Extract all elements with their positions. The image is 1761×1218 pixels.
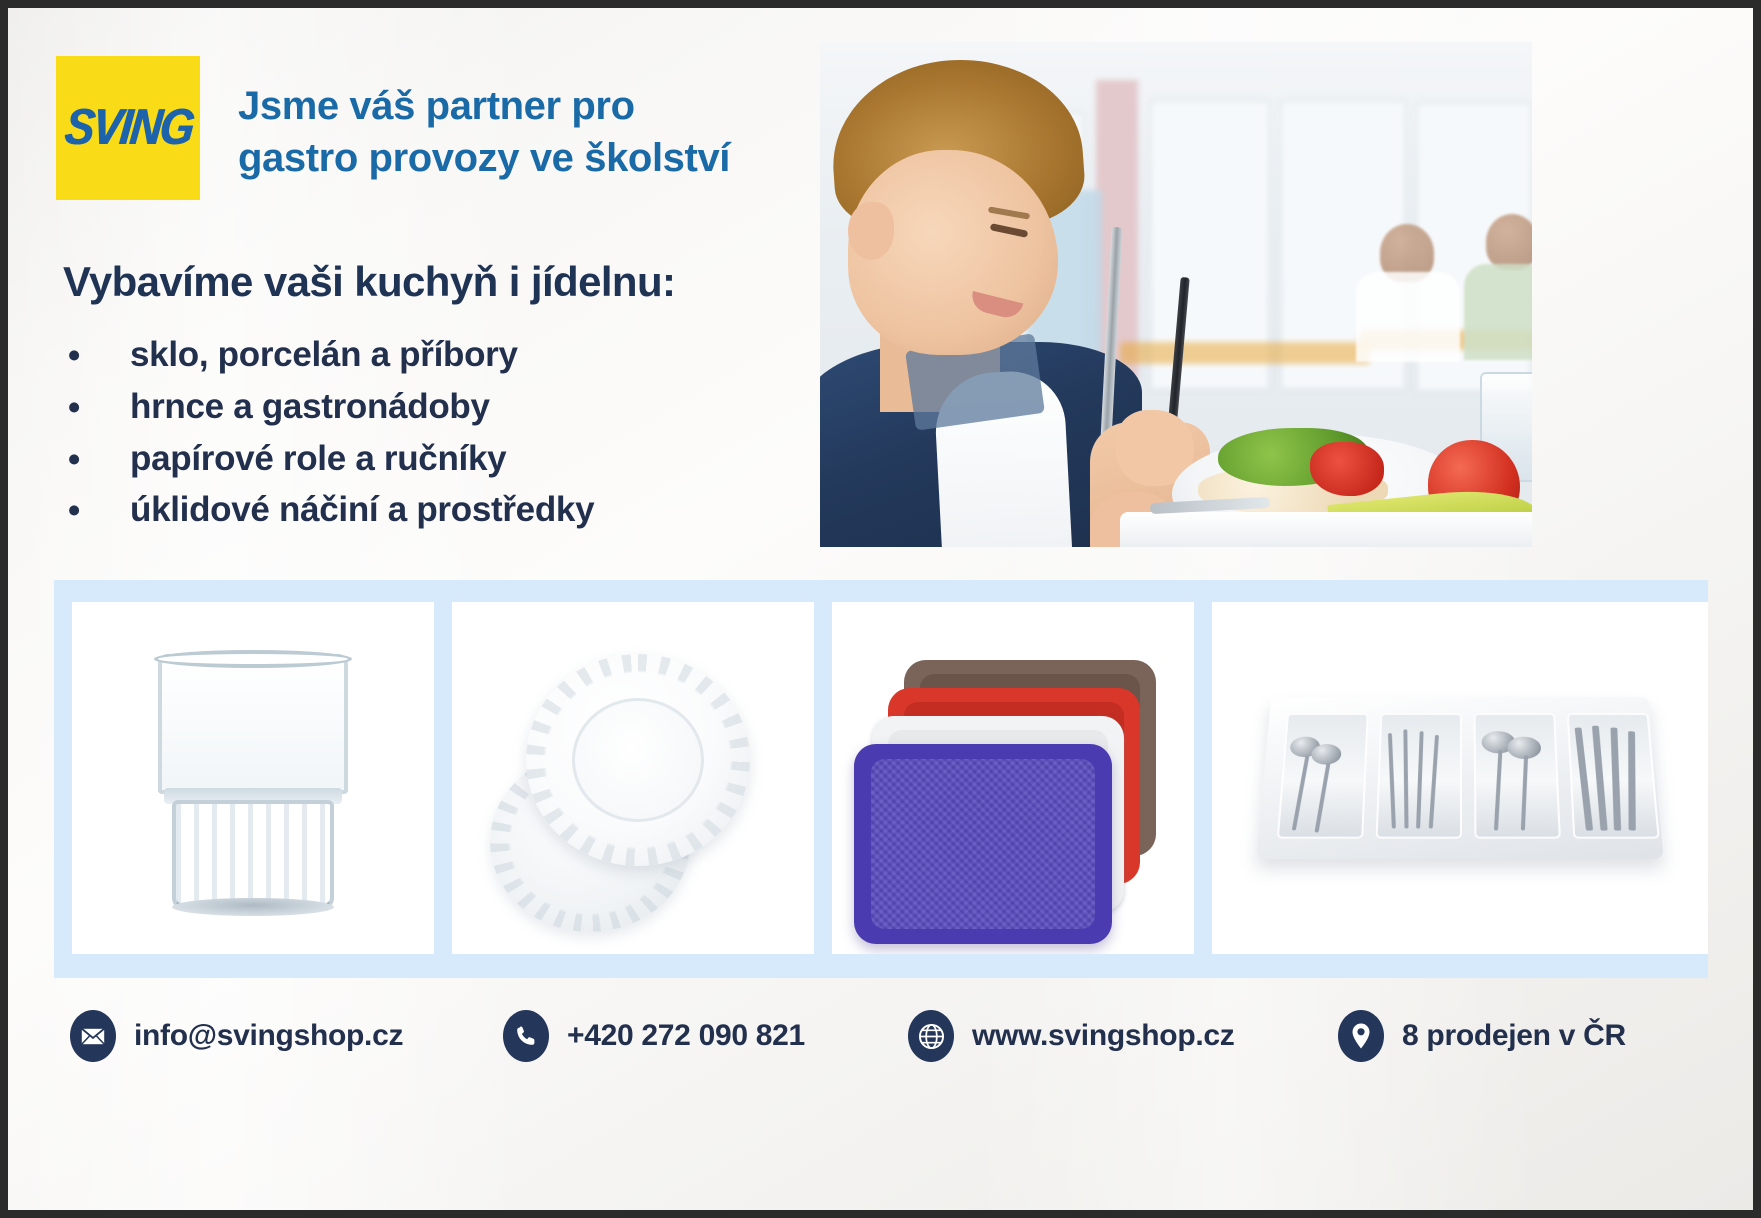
contact-phone-label: +420 272 090 821 <box>567 1019 805 1053</box>
boy-eating-lunch-photo <box>820 42 1532 547</box>
poster-frame: SVING Jsme váš partner pro gastro provoz… <box>8 8 1753 1210</box>
headline: Jsme váš partner pro gastro provozy ve š… <box>238 80 798 184</box>
product-card-drinking-glass[interactable] <box>72 602 434 954</box>
bullet-marker-icon: • <box>68 440 130 477</box>
contact-email[interactable]: info@svingshop.cz <box>70 1010 403 1062</box>
cutlery-compartment <box>1277 713 1369 839</box>
contact-footer: info@svingshop.cz +420 272 090 821 w <box>8 988 1753 1210</box>
product-card-serving-trays[interactable] <box>832 602 1194 954</box>
list-item: • papírové role a ručníky <box>68 440 788 478</box>
plate-large-fluted-rim <box>526 654 750 866</box>
contact-stores-label: 8 prodejen v ČR <box>1402 1019 1626 1053</box>
list-item-label: hrnce a gastronádoby <box>130 388 490 426</box>
headline-line-1: Jsme váš partner pro <box>238 80 798 132</box>
product-card-porcelain-plates[interactable] <box>452 602 814 954</box>
envelope-icon <box>70 1010 116 1062</box>
bullet-marker-icon: • <box>68 336 130 373</box>
list-item: • hrnce a gastronádoby <box>68 388 788 426</box>
list-item-label: úklidové náčiní a prostředky <box>130 491 594 529</box>
list-item: • úklidové náčiní a prostředky <box>68 491 788 529</box>
glass-lower-body <box>172 800 334 910</box>
product-gallery <box>54 580 1708 978</box>
serving-tray <box>1120 512 1532 547</box>
contact-website[interactable]: www.svingshop.cz <box>908 1010 1234 1062</box>
background-child-head <box>1486 214 1532 270</box>
list-item-label: papírové role a ručníky <box>130 440 506 478</box>
services-list: • sklo, porcelán a příbory • hrnce a gas… <box>68 336 788 543</box>
tray-purple-surface <box>871 759 1095 929</box>
headline-line-2: gastro provozy ve školství <box>238 132 798 184</box>
list-item-label: sklo, porcelán a příbory <box>130 336 518 374</box>
map-pin-icon <box>1338 1010 1384 1062</box>
background-child-body <box>1464 264 1532 360</box>
contact-email-label: info@svingshop.cz <box>134 1019 403 1053</box>
cafeteria-table <box>1120 342 1370 364</box>
cutlery-compartment <box>1474 713 1561 839</box>
globe-icon <box>908 1010 954 1062</box>
list-item: • sklo, porcelán a příbory <box>68 336 788 374</box>
food-tomato <box>1310 442 1384 496</box>
tray-purple <box>854 744 1112 944</box>
cutlery-tray-body <box>1256 697 1663 859</box>
product-card-cutlery-tray[interactable] <box>1212 602 1708 954</box>
knife-blade <box>1628 731 1636 831</box>
logo-wordmark: SVING <box>62 99 195 157</box>
section-subheading: Vybavíme vaši kuchyň i jídelnu: <box>63 258 675 306</box>
phone-icon <box>503 1010 549 1062</box>
sving-logo[interactable]: SVING <box>56 56 200 200</box>
contact-phone[interactable]: +420 272 090 821 <box>503 1010 805 1062</box>
contact-stores[interactable]: 8 prodejen v ČR <box>1338 1010 1626 1062</box>
contact-website-label: www.svingshop.cz <box>972 1019 1234 1053</box>
bullet-marker-icon: • <box>68 388 130 425</box>
bullet-marker-icon: • <box>68 491 130 528</box>
glass-base <box>172 898 334 916</box>
glass-upper-body <box>158 654 348 794</box>
glass-rim <box>154 650 352 668</box>
background-child-body <box>1356 272 1460 362</box>
boy-ear <box>848 202 894 260</box>
